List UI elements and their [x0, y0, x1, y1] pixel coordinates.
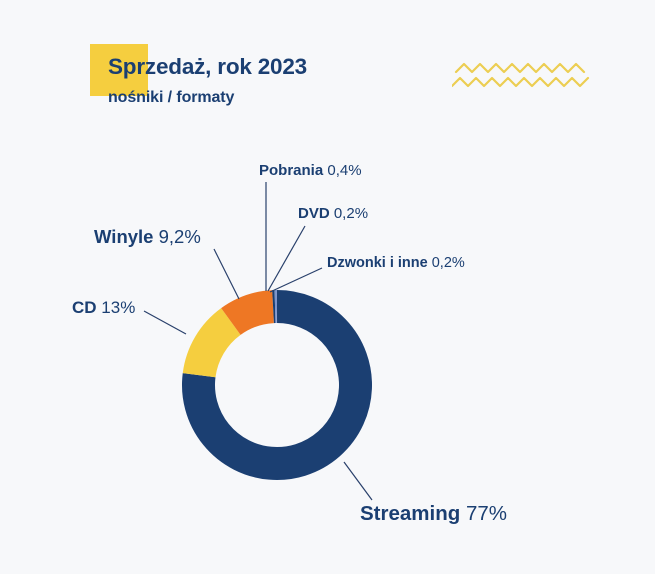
infographic-root: Sprzedaż, rok 2023 nośniki / formaty	[0, 0, 655, 574]
slice-label-cd-value: 13%	[101, 298, 135, 317]
leader-line-streaming	[344, 462, 372, 500]
slice-label-streaming-value: 77%	[466, 502, 507, 525]
leader-line-winyle	[214, 249, 239, 299]
slice-label-dvd-name: DVD	[298, 205, 330, 222]
slice-label-pobrania-value: 0,4%	[327, 162, 361, 179]
slice-label-winyle: Winyle 9,2%	[94, 228, 201, 247]
slice-cd[interactable]	[199, 321, 231, 375]
slice-label-dzwonki-i-inne-value: 0,2%	[432, 255, 465, 271]
slice-label-pobrania: Pobrania 0,4%	[259, 163, 362, 178]
slice-label-dvd-value: 0,2%	[334, 205, 368, 222]
slice-label-pobrania-name: Pobrania	[259, 162, 323, 179]
leader-line-cd	[144, 311, 186, 334]
leader-line-dvd	[268, 226, 305, 291]
slice-label-dzwonki-i-inne-name: Dzwonki i inne	[327, 255, 428, 271]
slice-label-streaming-name: Streaming	[360, 502, 460, 525]
donut-chart-svg	[0, 0, 655, 574]
slice-label-winyle-name: Winyle	[94, 226, 153, 247]
slice-label-streaming: Streaming 77%	[360, 504, 507, 525]
slice-winyle[interactable]	[231, 307, 273, 322]
slice-label-dvd: DVD 0,2%	[298, 206, 368, 221]
leader-line-dzwonki	[270, 268, 322, 292]
slice-label-dzwonki-i-inne: Dzwonki i inne 0,2%	[327, 256, 465, 271]
slice-label-cd-name: CD	[72, 298, 97, 317]
slice-label-cd: CD 13%	[72, 299, 135, 316]
donut-slices	[199, 307, 356, 464]
slice-label-winyle-value: 9,2%	[159, 226, 201, 247]
donut-chart: Pobrania 0,4% DVD 0,2% Dzwonki i inne 0,…	[0, 0, 655, 574]
